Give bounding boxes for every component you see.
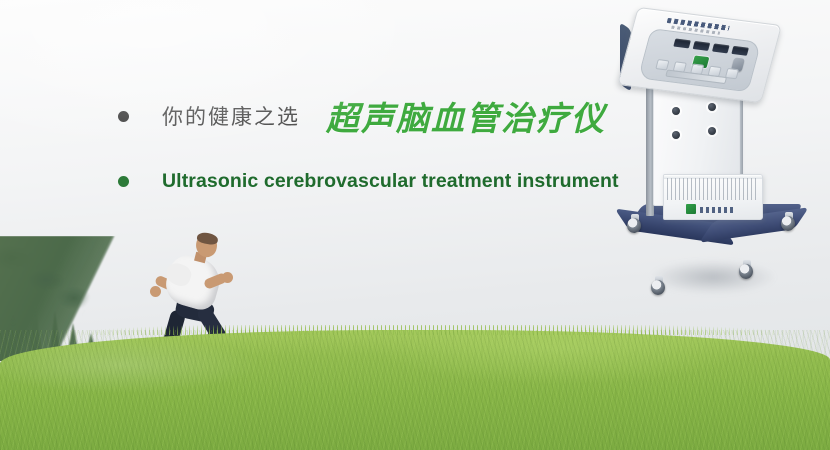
panel-button xyxy=(725,68,739,79)
caster-wheel-disc xyxy=(739,264,753,279)
caster-wheel-disc xyxy=(651,280,665,295)
display-window xyxy=(712,43,730,53)
caster-wheel xyxy=(627,214,643,234)
product-banner: 你的健康之选 超声脑血管治疗仪 Ultrasonic cerebrovascul… xyxy=(0,0,830,450)
runner-back-fist xyxy=(150,286,161,297)
connector-port xyxy=(672,107,680,115)
display-windows xyxy=(673,39,749,56)
display-window xyxy=(693,41,711,51)
bullet-green-icon xyxy=(118,176,129,187)
caster-wheel xyxy=(781,212,797,232)
caster-wheel xyxy=(739,260,755,280)
headline-zh-main: 超声脑血管治疗仪 xyxy=(326,92,606,140)
console-control-panel xyxy=(638,28,762,92)
product-device-image xyxy=(615,8,820,308)
grass-hill xyxy=(0,330,830,450)
device-console xyxy=(617,7,782,103)
connector-port xyxy=(708,127,716,135)
device-shadow xyxy=(623,244,803,310)
runner-front-fist xyxy=(222,272,233,283)
headline-en: Ultrasonic cerebrovascular treatment ins… xyxy=(162,170,619,193)
caster-wheel-disc xyxy=(781,216,795,231)
headline-zh-sub: 你的健康之选 xyxy=(162,101,300,131)
grass-texture xyxy=(0,330,830,450)
bullet-dark-icon xyxy=(118,111,129,122)
display-window xyxy=(673,39,691,49)
headline-line-english: Ultrasonic cerebrovascular treatment ins… xyxy=(118,170,619,193)
connector-port xyxy=(672,131,680,139)
caster-wheel-disc xyxy=(627,218,641,233)
device-accessory-basket xyxy=(663,174,763,220)
brand-logo-icon xyxy=(686,204,696,214)
display-window xyxy=(731,46,749,56)
brand-name-text xyxy=(700,207,734,213)
headline-line-chinese: 你的健康之选 超声脑血管治疗仪 xyxy=(118,92,606,140)
caster-wheel xyxy=(651,276,667,296)
basket-slats xyxy=(667,178,759,200)
connector-port xyxy=(708,103,716,111)
